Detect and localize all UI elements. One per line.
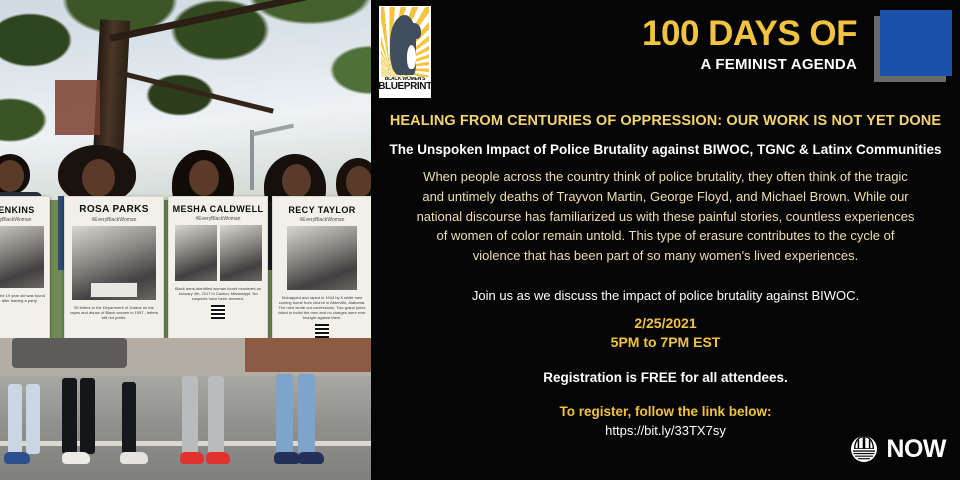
poster-name: A JENKINS [0, 205, 49, 215]
poster-hashtag: #EveryBlackWoman [65, 217, 163, 223]
campaign-title: 100 DAYS OF [642, 16, 857, 51]
blueprint-silhouette-icon [381, 7, 429, 77]
protester-shoe [298, 452, 324, 464]
event-heading: HEALING FROM CENTURIES OF OPPRESSION: OU… [371, 113, 960, 129]
protester-leg [182, 376, 198, 454]
poster-body-text: Black trans-identified woman found murde… [169, 284, 267, 303]
poster-qr-code [315, 324, 329, 338]
event-date: 2/25/2021 [371, 315, 960, 331]
event-join-line: Join us as we discuss the impact of poli… [371, 288, 960, 303]
protester-leg [276, 374, 293, 454]
protester-leg [208, 376, 224, 454]
protester-leg [80, 378, 95, 454]
brick-wall [245, 338, 371, 372]
photo-lower-street [0, 338, 371, 480]
parked-car [12, 338, 127, 368]
flyer-content-panel: BLACK WOMEN'S BLUEPRINT 100 DAYS OF A FE… [371, 0, 960, 480]
poster-portrait [175, 225, 217, 281]
register-prompt: To register, follow the link below: [371, 404, 960, 419]
poster-hashtag: #EveryBlackWoman [169, 216, 267, 222]
poster-hashtag: #EveryBlackWoman [0, 217, 49, 223]
poster-name: MESHA CALDWELL [169, 204, 267, 214]
poster-qr-code [211, 305, 225, 319]
poster-name: RECY TAYLOR [273, 205, 371, 215]
poster-row: A JENKINS #EveryBlackWoman In Chicago IL… [0, 196, 371, 344]
protester-shoe [4, 452, 30, 464]
poster-body-text: Kidnapped and raped in 1944 by 6 white m… [273, 293, 371, 322]
background-building [55, 80, 100, 135]
protester-shoe [62, 452, 90, 464]
protester-leg [122, 382, 136, 454]
protest-poster: RECY TAYLOR #EveryBlackWoman Kidnapped a… [272, 196, 371, 346]
protester-leg [26, 384, 40, 454]
black-womens-blueprint-logo: BLACK WOMEN'S BLUEPRINT [379, 6, 431, 98]
poster-portrait [72, 226, 156, 300]
registration-note: Registration is FREE for all attendees. [371, 370, 960, 385]
poster-hashtag: #EveryBlackWoman [273, 217, 371, 223]
protester-leg [62, 378, 77, 454]
protester-leg [8, 384, 22, 454]
event-flyer: A JENKINS #EveryBlackWoman In Chicago IL… [0, 0, 960, 480]
protest-photograph: A JENKINS #EveryBlackWoman In Chicago IL… [0, 0, 371, 480]
protester-shoe [180, 452, 204, 464]
protester-shoe [120, 452, 148, 464]
event-time: 5PM to 7PM EST [371, 334, 960, 350]
protester-leg [298, 374, 315, 454]
poster-portrait [0, 226, 44, 288]
now-logo: NOW [849, 434, 946, 464]
event-description: When people across the country think of … [411, 167, 920, 266]
campaign-subtitle: A FEMINIST AGENDA [642, 56, 857, 73]
poster-body-text: 90 letters to the Department of Justice … [65, 303, 163, 322]
campaign-title-block: 100 DAYS OF A FEMINIST AGENDA [642, 16, 857, 73]
protest-poster: MESHA CALDWELL #EveryBlackWoman Black tr… [168, 196, 268, 346]
poster-name: ROSA PARKS [65, 204, 163, 215]
now-wordmark: NOW [886, 437, 946, 462]
event-subheading: The Unspoken Impact of Police Brutality … [371, 142, 960, 157]
poster-portrait [287, 226, 357, 290]
now-emblem-icon [849, 434, 879, 464]
protest-poster: A JENKINS #EveryBlackWoman In Chicago IL… [0, 196, 50, 344]
protest-poster: ROSA PARKS #EveryBlackWoman 90 letters t… [64, 196, 164, 346]
protester-shoe [206, 452, 230, 464]
blue-accent-square [880, 10, 952, 76]
protester-shoe [274, 452, 300, 464]
logo-line-2: BLUEPRINT [378, 82, 432, 93]
poster-body-text: In Chicago IL, the 19 year old was found… [0, 291, 49, 305]
poster-portrait [220, 225, 262, 281]
